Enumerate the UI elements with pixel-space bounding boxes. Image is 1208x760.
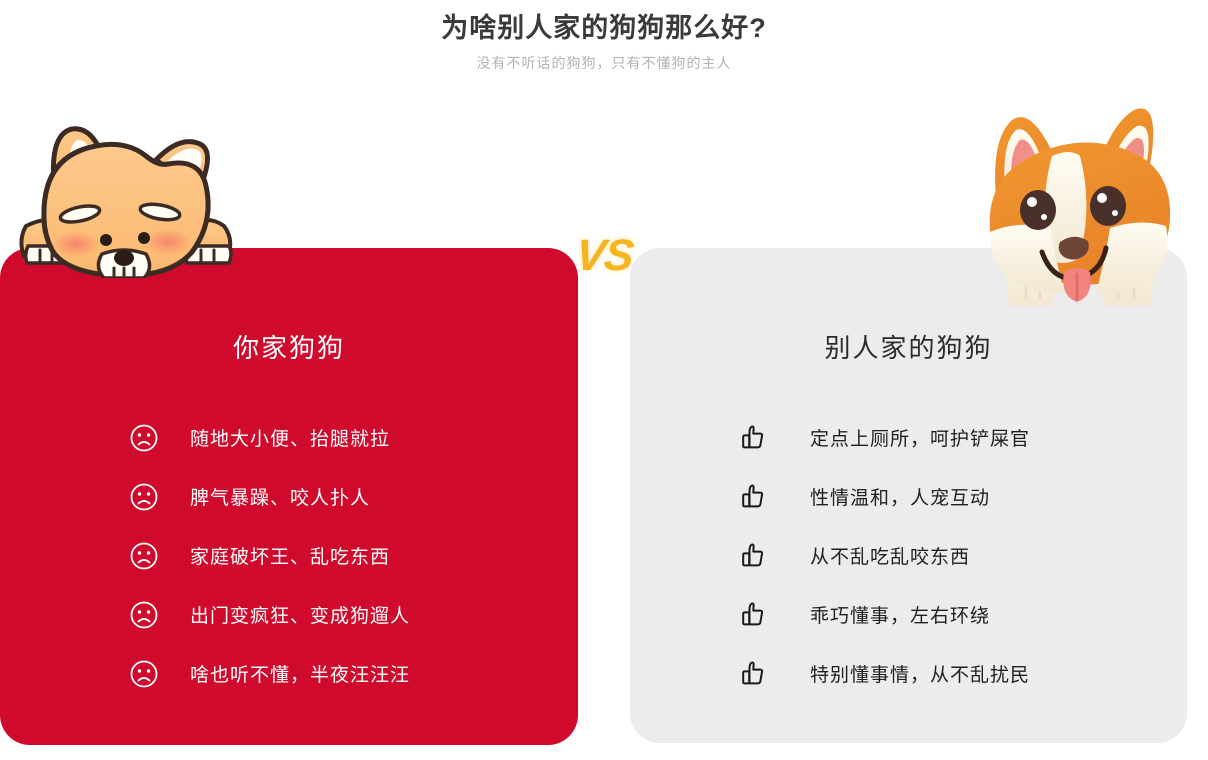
list-item: 从不乱吃乱咬东西 — [630, 526, 1187, 585]
list-item-label: 脾气暴躁、咬人扑人 — [190, 483, 370, 510]
list-item: 乖巧懂事，左右环绕 — [630, 585, 1187, 644]
list-item: 出门变疯狂、变成狗遛人 — [0, 585, 578, 644]
left-card-heading: 你家狗狗 — [0, 328, 578, 365]
list-item-label: 家庭破坏王、乱吃东西 — [190, 542, 390, 569]
list-item: 脾气暴躁、咬人扑人 — [0, 467, 578, 526]
thumbs-up-icon — [734, 479, 770, 515]
vs-label: VS — [573, 231, 635, 281]
list-item-label: 出门变疯狂、变成狗遛人 — [190, 601, 410, 628]
comparison-poster: 为啥别人家的狗狗那么好? 没有不听话的狗狗，只有不懂狗的主人 你家狗狗 随地大小… — [0, 0, 1208, 760]
list-item: 随地大小便、抬腿就拉 — [0, 408, 578, 467]
sad-face-icon — [126, 656, 162, 692]
sad-face-icon — [126, 479, 162, 515]
sad-face-icon — [126, 597, 162, 633]
left-comparison-card: 你家狗狗 随地大小便、抬腿就拉 — [0, 248, 578, 745]
list-item-label: 随地大小便、抬腿就拉 — [190, 424, 390, 451]
left-card-list: 随地大小便、抬腿就拉 脾气暴躁、咬人扑人 — [0, 408, 578, 703]
corgi-dog-illustration — [968, 104, 1198, 309]
list-item-label: 特别懂事情，从不乱扰民 — [810, 660, 1030, 687]
right-card-list: 定点上厕所，呵护铲屎官 性情温和，人宠互动 — [630, 408, 1187, 703]
list-item-label: 啥也听不懂，半夜汪汪汪 — [190, 660, 410, 687]
list-item: 定点上厕所，呵护铲屎官 — [630, 408, 1187, 467]
list-item: 啥也听不懂，半夜汪汪汪 — [0, 644, 578, 703]
list-item-label: 性情温和，人宠互动 — [810, 483, 990, 510]
list-item-label: 从不乱吃乱咬东西 — [810, 542, 970, 569]
list-item: 特别懂事情，从不乱扰民 — [630, 644, 1187, 703]
page-subtitle: 没有不听话的狗狗，只有不懂狗的主人 — [0, 48, 1208, 74]
right-card-heading: 别人家的狗狗 — [630, 328, 1187, 365]
thumbs-up-icon — [734, 656, 770, 692]
thumbs-up-icon — [734, 597, 770, 633]
right-comparison-card: 别人家的狗狗 定点上厕所，呵护铲屎官 性情温和， — [630, 248, 1187, 743]
thumbs-up-icon — [734, 538, 770, 574]
page-title: 为啥别人家的狗狗那么好? — [0, 0, 1208, 48]
poster-header: 为啥别人家的狗狗那么好? 没有不听话的狗狗，只有不懂狗的主人 — [0, 0, 1208, 74]
list-item: 性情温和，人宠互动 — [630, 467, 1187, 526]
sad-face-icon — [126, 538, 162, 574]
sad-face-icon — [126, 420, 162, 456]
list-item-label: 乖巧懂事，左右环绕 — [810, 601, 990, 628]
thumbs-up-icon — [734, 420, 770, 456]
shiba-inu-dog-illustration — [8, 118, 248, 278]
list-item-label: 定点上厕所，呵护铲屎官 — [810, 424, 1030, 451]
list-item: 家庭破坏王、乱吃东西 — [0, 526, 578, 585]
